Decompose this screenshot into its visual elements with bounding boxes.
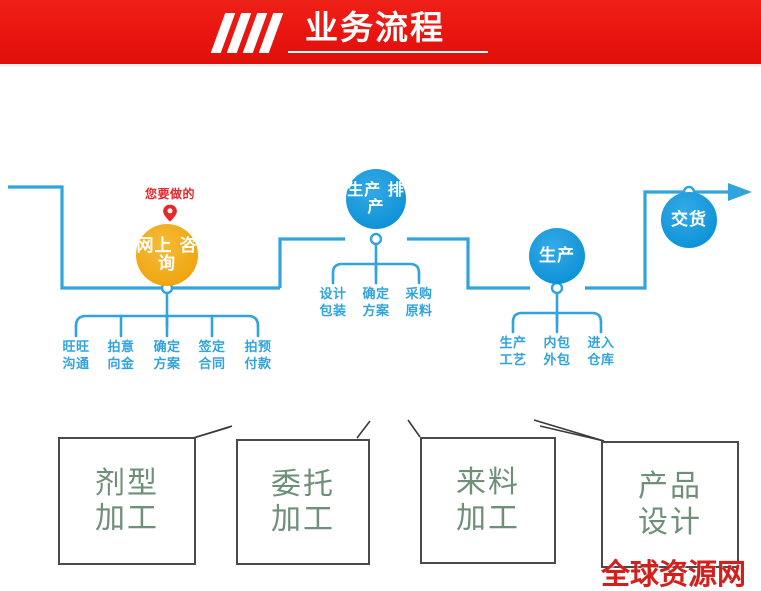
title-underline [288, 51, 488, 53]
flow-node-consult[interactable]: 网上 咨询 [136, 224, 198, 286]
sublabel-schedule-2-line-2: 方案 [354, 303, 398, 320]
sublabel-consult-5-line-2: 付款 [236, 356, 280, 373]
produce-ticks [513, 313, 601, 332]
header-banner: 业务流程 [0, 0, 761, 64]
service-box-1[interactable]: 剂型 加工 [58, 437, 196, 565]
sublabel-produce-1: 生产 工艺 [491, 335, 535, 369]
sublabel-schedule-2: 确定 方案 [354, 286, 398, 320]
callout-label: 您要做的 [131, 185, 209, 202]
service-box-2[interactable]: 委托 加工 [236, 439, 370, 565]
map-pin-icon [162, 204, 178, 222]
four-slashes-icon [218, 13, 288, 53]
service-box-1-line-2: 加工 [95, 501, 159, 536]
node-anchor-schedule [371, 234, 381, 244]
spine-segment-2 [280, 239, 345, 288]
sublabel-produce-2-line-2: 外包 [535, 352, 579, 369]
watermark-text: 全球资源网 [601, 551, 746, 591]
sublabel-produce-2: 内包 外包 [535, 335, 579, 369]
service-box-4-line-1: 产品 [638, 469, 702, 504]
sublabel-produce-2-line-1: 内包 [535, 335, 579, 352]
flow-node-deliver[interactable]: 交货 [661, 192, 717, 248]
service-box-3-line-2: 加工 [456, 501, 520, 536]
sublabel-consult-4-line-1: 签定 [190, 339, 234, 356]
box-leader-3 [408, 420, 420, 437]
sublabel-consult-1: 旺旺 沟通 [54, 339, 98, 373]
sublabel-consult-1-line-1: 旺旺 [54, 339, 98, 356]
service-box-4-line-2: 设计 [638, 505, 702, 540]
sublabel-produce-3: 进入 仓库 [579, 335, 623, 369]
node-produce-label: 生产 [539, 247, 575, 265]
box-leader-1b [190, 426, 232, 439]
sublabel-schedule-1: 设计 包装 [311, 286, 355, 320]
sublabel-produce-3-line-2: 仓库 [579, 352, 623, 369]
flow-node-produce[interactable]: 生产 [529, 228, 585, 284]
sublabel-produce-1-line-2: 工艺 [491, 352, 535, 369]
spine-segment-3 [407, 239, 530, 288]
service-box-3-line-1: 来料 [456, 465, 520, 500]
service-box-3[interactable]: 来料 加工 [420, 437, 556, 564]
sublabel-consult-4: 签定 合同 [190, 339, 234, 373]
node-anchor-produce [552, 283, 562, 293]
page-root: 业务流程 [0, 0, 761, 591]
sublabel-produce-3-line-1: 进入 [579, 335, 623, 352]
consult-ticks [76, 316, 258, 336]
sublabel-schedule-3-line-2: 原料 [397, 303, 441, 320]
sublabel-consult-5-line-1: 拍预 [236, 339, 280, 356]
sublabel-schedule-1-line-1: 设计 [311, 286, 355, 303]
service-box-4[interactable]: 产品 设计 [601, 441, 739, 568]
node-consult-line-1: 网上 [137, 236, 173, 256]
sublabel-consult-1-line-2: 沟通 [54, 356, 98, 373]
arrow-head-icon [728, 183, 752, 201]
sublabel-schedule-3-line-1: 采购 [397, 286, 441, 303]
sublabel-schedule-1-line-2: 包装 [311, 303, 355, 320]
sublabel-consult-3-line-2: 方案 [145, 356, 189, 373]
flow-node-schedule[interactable]: 生产 排产 [346, 169, 406, 229]
sublabel-produce-1-line-1: 生产 [491, 335, 535, 352]
sublabel-consult-3: 确定 方案 [145, 339, 189, 373]
sublabel-consult-3-line-1: 确定 [145, 339, 189, 356]
sublabel-schedule-2-line-1: 确定 [354, 286, 398, 303]
service-box-1-line-1: 剂型 [95, 466, 159, 501]
page-title: 业务流程 [305, 8, 445, 48]
service-box-2-line-1: 委托 [271, 467, 335, 502]
box-leader-2 [357, 421, 370, 438]
schedule-ticks [333, 264, 419, 283]
service-box-2-line-2: 加工 [271, 502, 335, 537]
sublabel-consult-2-line-1: 拍意 [99, 339, 143, 356]
node-deliver-label: 交货 [671, 211, 707, 229]
sublabel-consult-4-line-2: 合同 [190, 356, 234, 373]
sublabel-consult-5: 拍预 付款 [236, 339, 280, 373]
sublabel-consult-2-line-2: 向金 [99, 356, 143, 373]
sublabel-consult-2: 拍意 向金 [99, 339, 143, 373]
sublabel-schedule-3: 采购 原料 [397, 286, 441, 320]
